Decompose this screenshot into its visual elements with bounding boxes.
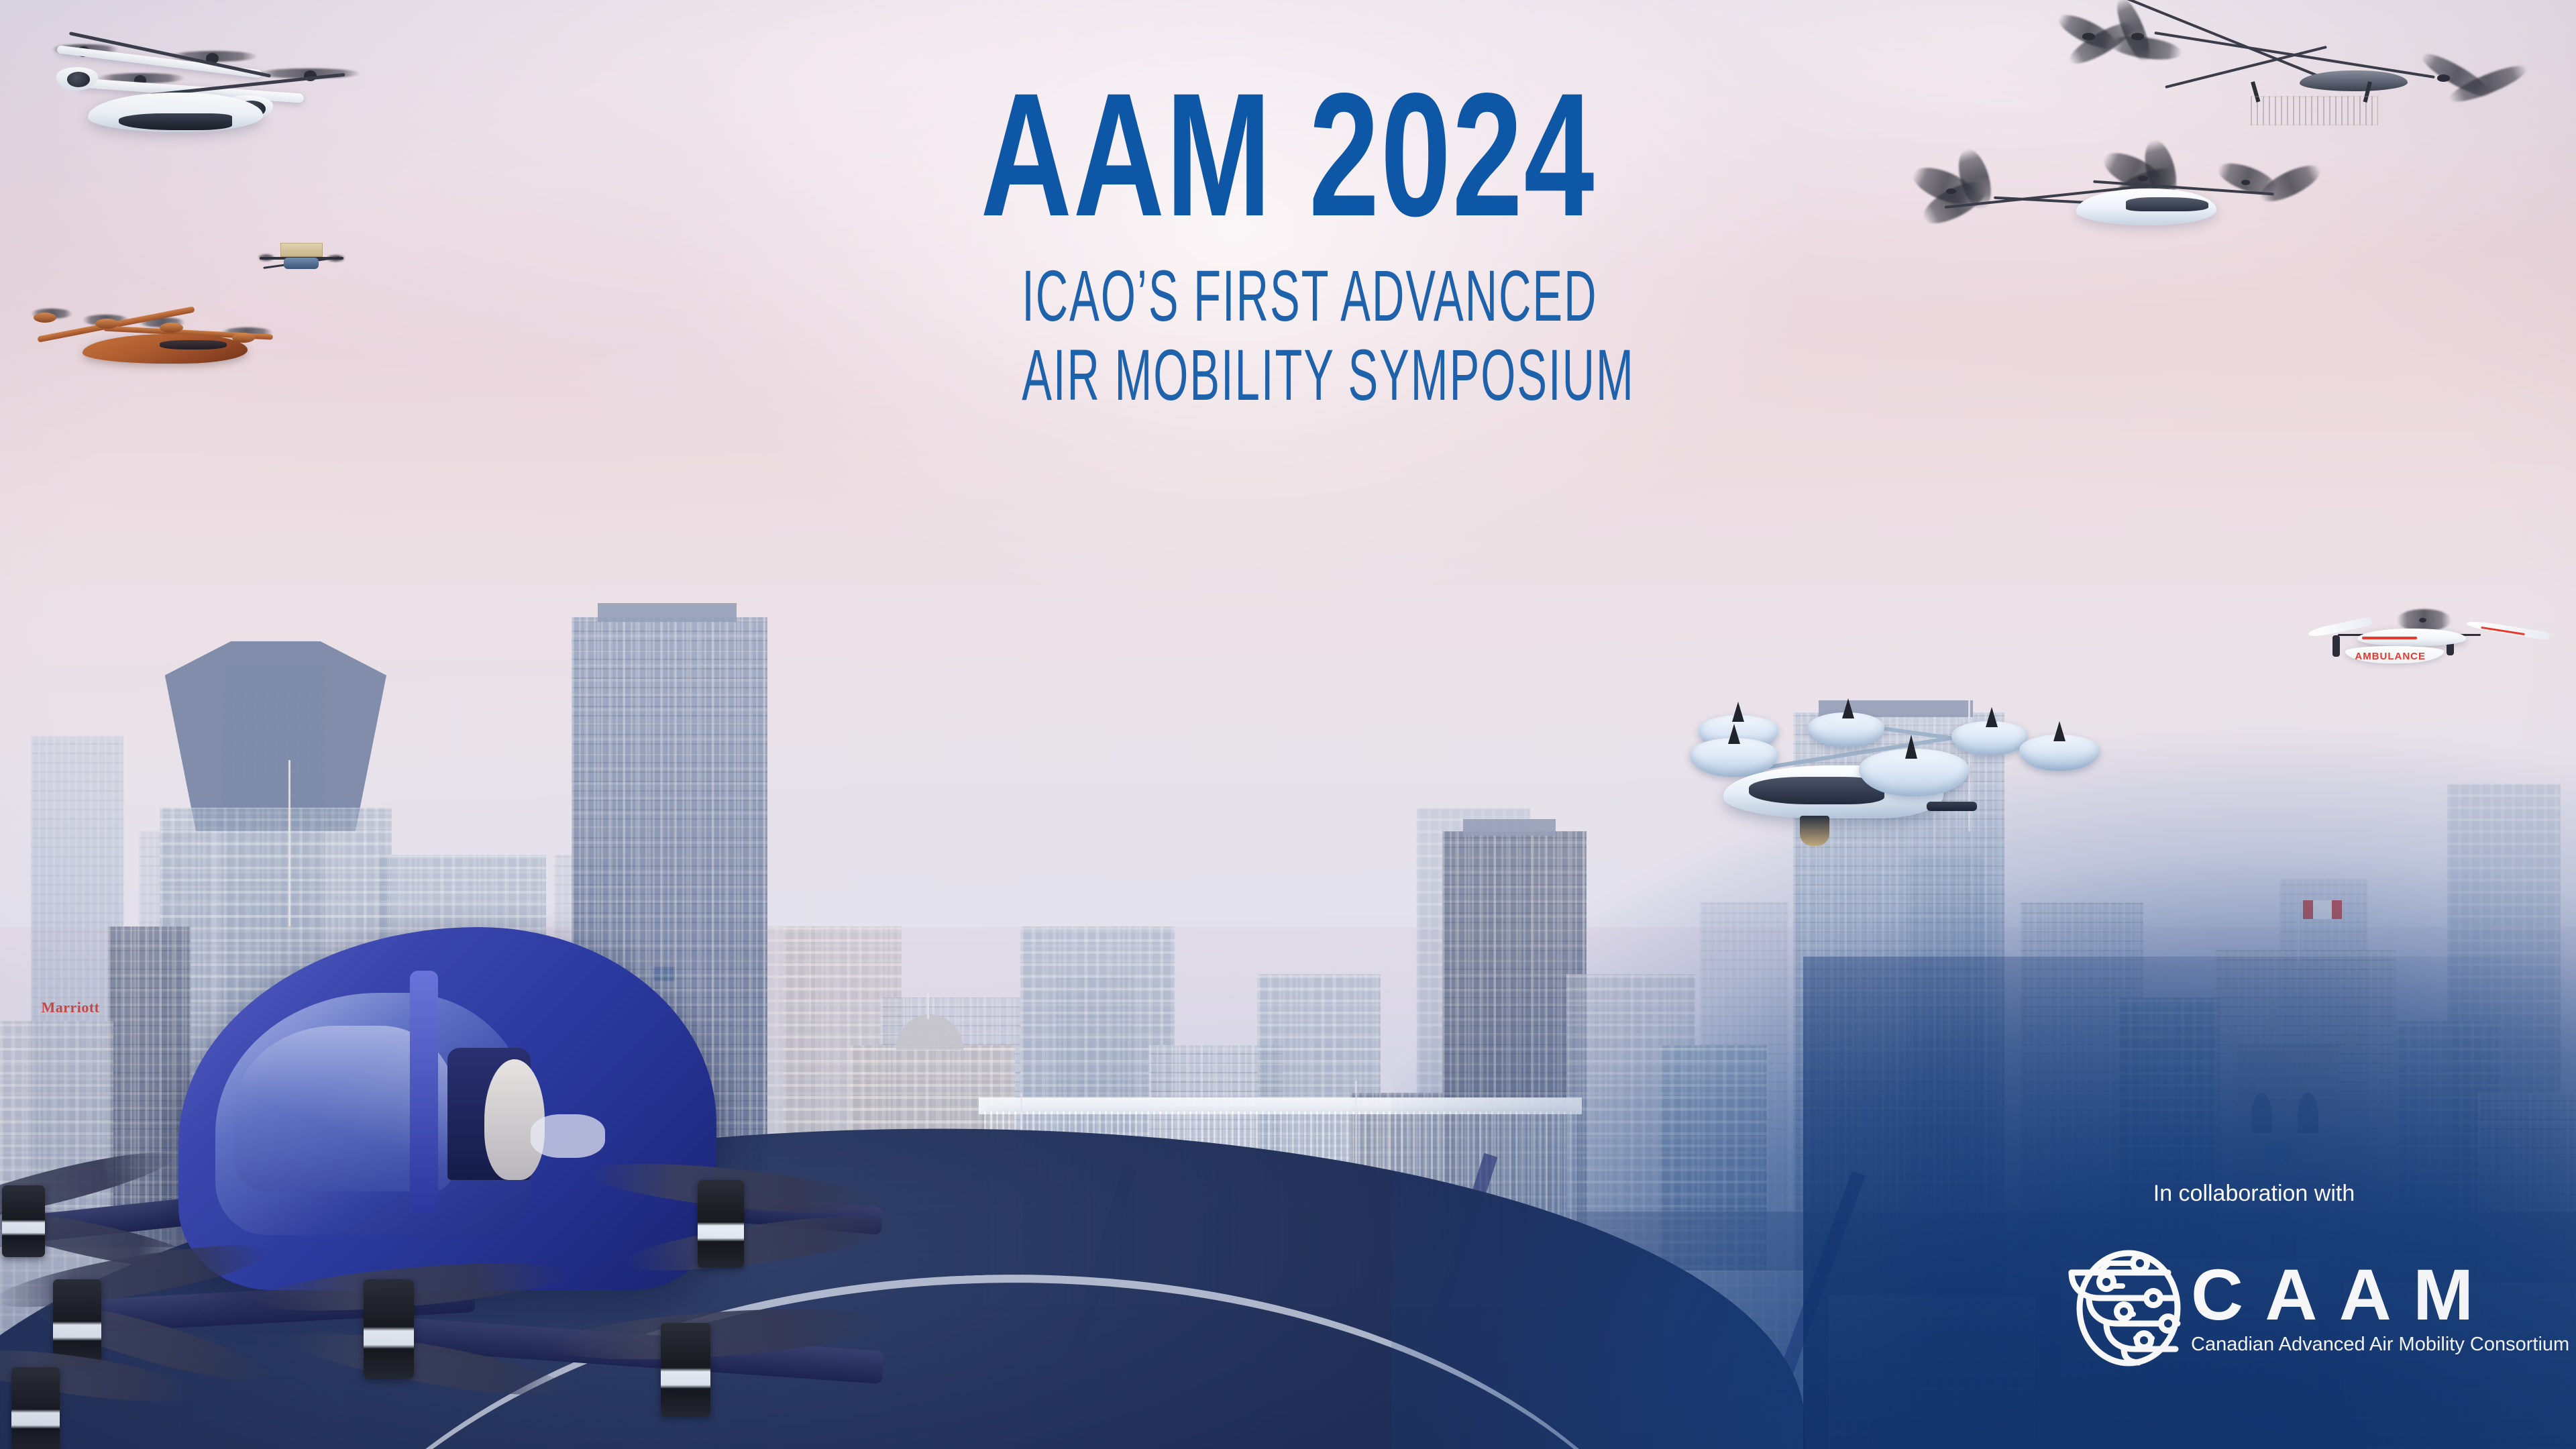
aircraft-white-tilt-rotor-evtol	[46, 35, 561, 151]
caam-logo: CAAM Canadian Advanced Air Mobility Cons…	[2066, 1244, 2569, 1368]
air-taxi-passenger	[484, 1059, 545, 1181]
cargo-crate	[2251, 96, 2378, 126]
subtitle-line-1: ICAO’S FIRST ADVANCED	[1022, 258, 1554, 333]
collaboration-label: In collaboration with	[2153, 1181, 2355, 1207]
aircraft-blue-air-taxi	[0, 916, 902, 1449]
caam-full-name: Canadian Advanced Air Mobility Consortiu…	[2191, 1335, 2569, 1354]
aircraft-copper-evtol	[25, 307, 283, 371]
caam-logo-mark-icon	[2066, 1244, 2187, 1368]
subtitle-line-2: AIR MOBILITY SYMPOSIUM	[1022, 337, 1554, 413]
ambulance-livery-text: AMBULANCE	[2355, 651, 2426, 662]
aircraft-parcel-delivery-drone	[258, 241, 345, 278]
aircraft-ambulance-drone: AMBULANCE	[2303, 612, 2551, 678]
page-title: AAM 2024	[979, 74, 1597, 235]
poster-canvas: Marriott	[0, 0, 2576, 1449]
aircraft-passenger-evtol-multirotor	[1911, 156, 2323, 264]
headline-block: AAM 2024 ICAO’S FIRST ADVANCED AIR MOBIL…	[859, 74, 1717, 413]
parcel-package	[280, 243, 323, 257]
aircraft-cargo-drone-with-crate	[2045, 15, 2535, 131]
caam-acronym: CAAM	[2191, 1258, 2569, 1331]
